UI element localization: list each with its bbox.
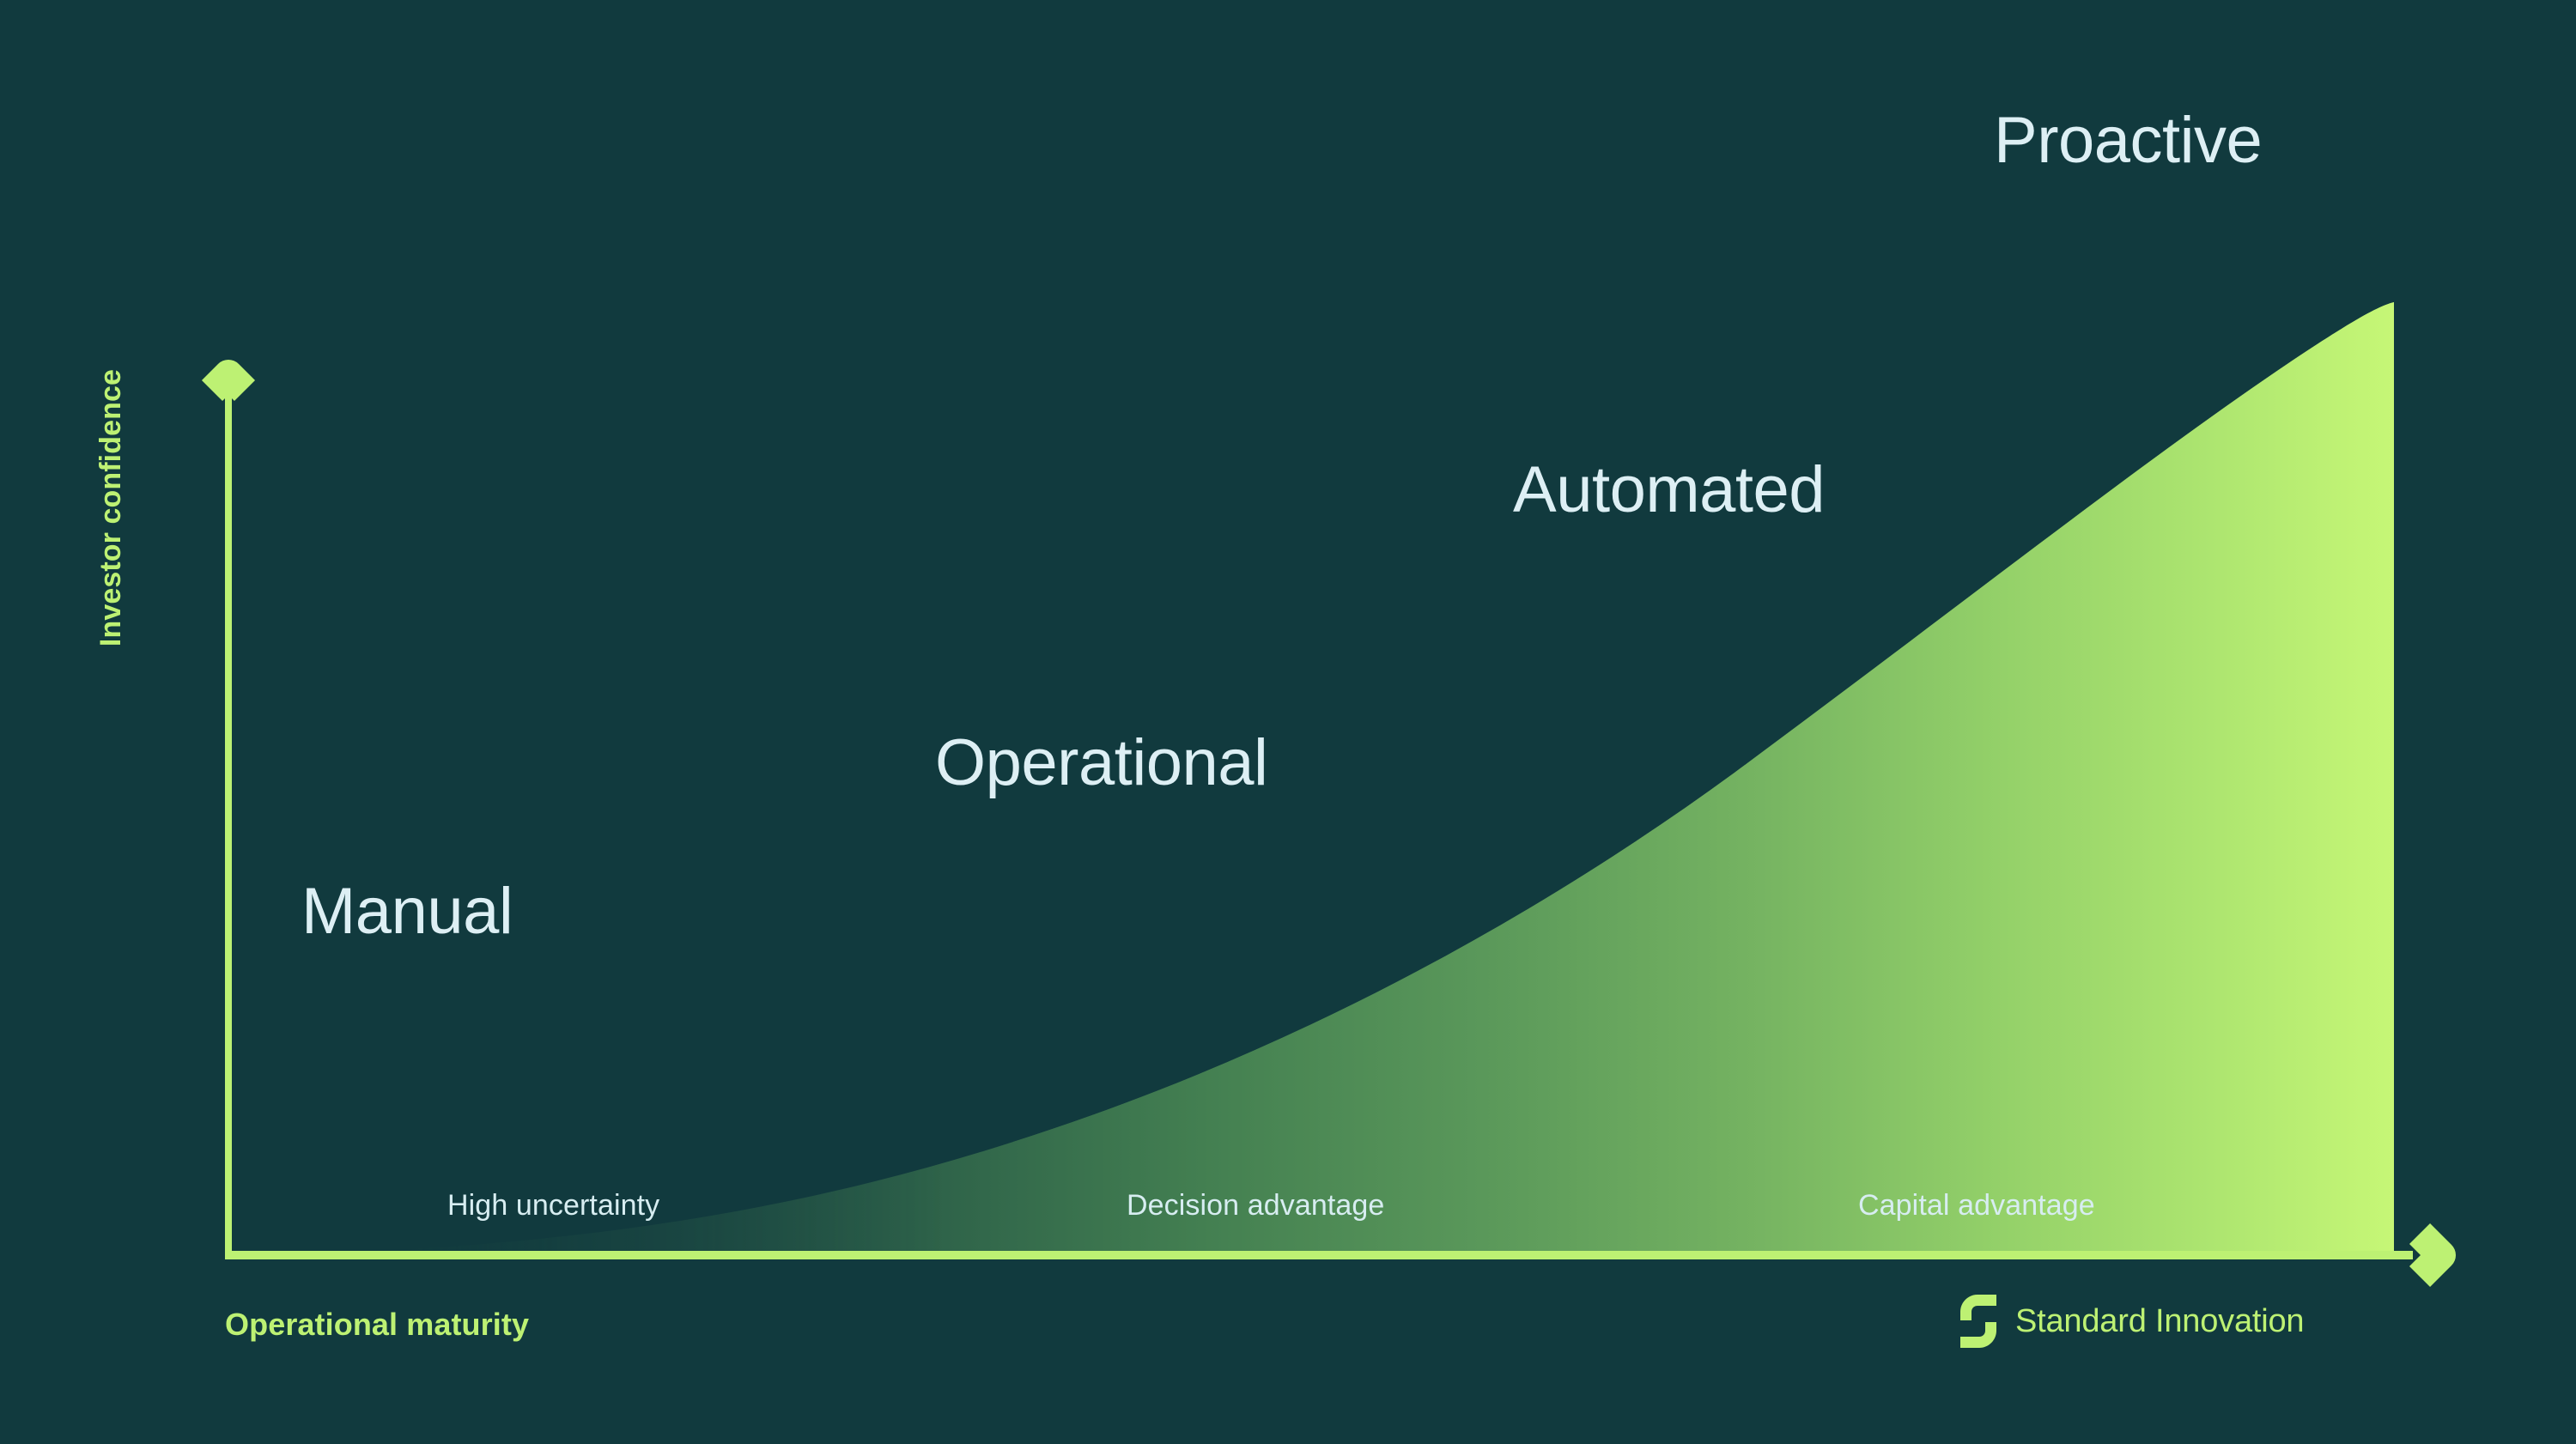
zone-label-capital-advantage: Capital advantage — [1858, 1189, 2095, 1223]
area-series — [225, 302, 2394, 1255]
chevron-right-icon — [2420, 1234, 2441, 1277]
y-axis-arrow — [212, 374, 245, 391]
x-axis-arrow — [2420, 1234, 2441, 1277]
chevron-up-icon — [212, 374, 245, 391]
x-axis-title: Operational maturity — [225, 1307, 529, 1343]
stage-label-automated: Automated — [1513, 452, 1825, 527]
standard-innovation-s-logo-icon — [1960, 1295, 1996, 1348]
zone-label-high-uncertainty: High uncertainty — [447, 1189, 659, 1223]
brand-lockup: Standard Innovation — [1960, 1295, 2304, 1348]
stage-label-operational: Operational — [935, 725, 1267, 800]
y-axis-title: Investor confidence — [94, 369, 128, 646]
stage-label-proactive: Proactive — [1994, 103, 2262, 178]
zone-label-decision-advantage: Decision advantage — [1127, 1189, 1384, 1223]
brand-name: Standard Innovation — [2015, 1303, 2304, 1340]
infographic-canvas: Investor confidence Operational maturity… — [0, 0, 2576, 1444]
stage-label-manual: Manual — [301, 874, 513, 949]
maturity-confidence-area-chart — [0, 0, 2576, 1444]
